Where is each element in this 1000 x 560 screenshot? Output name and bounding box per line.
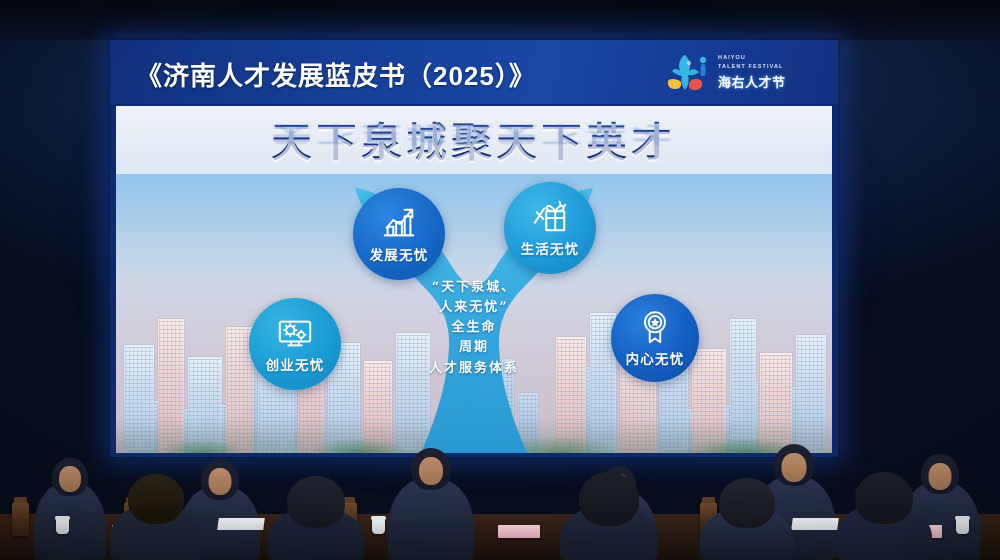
logo-english-line2: TALENT FESTIVAL bbox=[718, 64, 786, 71]
slide-header-bar: 《济南人才发展蓝皮书（2025）》 HAIYOU TALENT FESTIVAL bbox=[110, 40, 838, 104]
cityscape-photo: “天下泉城、 人来无忧” 全生命 周期 人才服务体系 bbox=[116, 174, 832, 453]
attendee-front bbox=[110, 504, 202, 560]
gift-box-icon bbox=[531, 198, 569, 236]
festival-logo-icon bbox=[664, 51, 712, 95]
festival-logo-mark bbox=[664, 51, 712, 95]
slide-headline-reflection: 天下泉城聚天下英才 bbox=[116, 120, 832, 152]
badge-fazhan-label: 发展无忧 bbox=[370, 244, 429, 264]
monitor-gears-icon bbox=[276, 314, 314, 352]
tea-mug bbox=[56, 519, 69, 534]
attendee-front bbox=[268, 508, 364, 560]
badge-shenghuo-wuyou[interactable]: 生活无忧 bbox=[504, 182, 596, 274]
attendee-front bbox=[700, 508, 794, 560]
led-presentation-screen: 《济南人才发展蓝皮书（2025）》 HAIYOU TALENT FESTIVAL bbox=[110, 40, 838, 457]
figure-line-5: 人才服务体系 bbox=[379, 359, 569, 379]
conference-room: 《济南人才发展蓝皮书（2025）》 HAIYOU TALENT FESTIVAL bbox=[0, 0, 1000, 560]
tea-mug bbox=[372, 519, 385, 534]
badge-neixin-label: 内心无忧 bbox=[626, 348, 685, 368]
festival-logo-wordmark: HAIYOU TALENT FESTIVAL 海右人才节 bbox=[718, 55, 786, 92]
attendee-front bbox=[836, 504, 932, 560]
slide-body: 天下泉城聚天下英才 天下泉城聚天下英才 bbox=[116, 106, 832, 453]
badge-chuangye-wuyou[interactable]: 创业无忧 bbox=[249, 298, 341, 390]
document bbox=[791, 518, 839, 530]
attendee bbox=[34, 482, 106, 560]
tea-mug bbox=[956, 519, 969, 534]
document bbox=[217, 518, 265, 530]
award-medal-icon bbox=[636, 308, 674, 346]
headline-zone: 天下泉城聚天下英才 天下泉城聚天下英才 bbox=[116, 106, 832, 178]
figure-line-2: 人来无忧” bbox=[379, 298, 569, 318]
logo-chinese-name: 海右人才节 bbox=[718, 72, 786, 91]
thermos bbox=[12, 502, 29, 536]
figure-line-3: 全生命 bbox=[379, 318, 569, 338]
badge-neixin-wuyou[interactable]: 内心无忧 bbox=[611, 294, 699, 382]
nameplate bbox=[498, 525, 540, 538]
badge-shenghuo-label: 生活无忧 bbox=[521, 238, 580, 258]
audience-foreground bbox=[0, 442, 1000, 560]
badge-chuangye-label: 创业无忧 bbox=[266, 354, 325, 374]
figure-line-1: “天下泉城、 bbox=[379, 278, 569, 298]
figure-slogan-text: “天下泉城、 人来无忧” 全生命 周期 人才服务体系 bbox=[379, 278, 569, 379]
figure-line-4: 周期 bbox=[379, 338, 569, 358]
attendee bbox=[388, 478, 474, 560]
attendee-front bbox=[560, 506, 658, 560]
badge-fazhan-wuyou[interactable]: 发展无忧 bbox=[353, 188, 445, 280]
haiyou-talent-festival-logo: HAIYOU TALENT FESTIVAL 海右人才节 bbox=[664, 48, 814, 98]
growth-chart-icon bbox=[380, 204, 418, 242]
logo-english-line1: HAIYOU bbox=[718, 55, 786, 62]
slide-title: 《济南人才发展蓝皮书（2025）》 bbox=[136, 56, 536, 93]
